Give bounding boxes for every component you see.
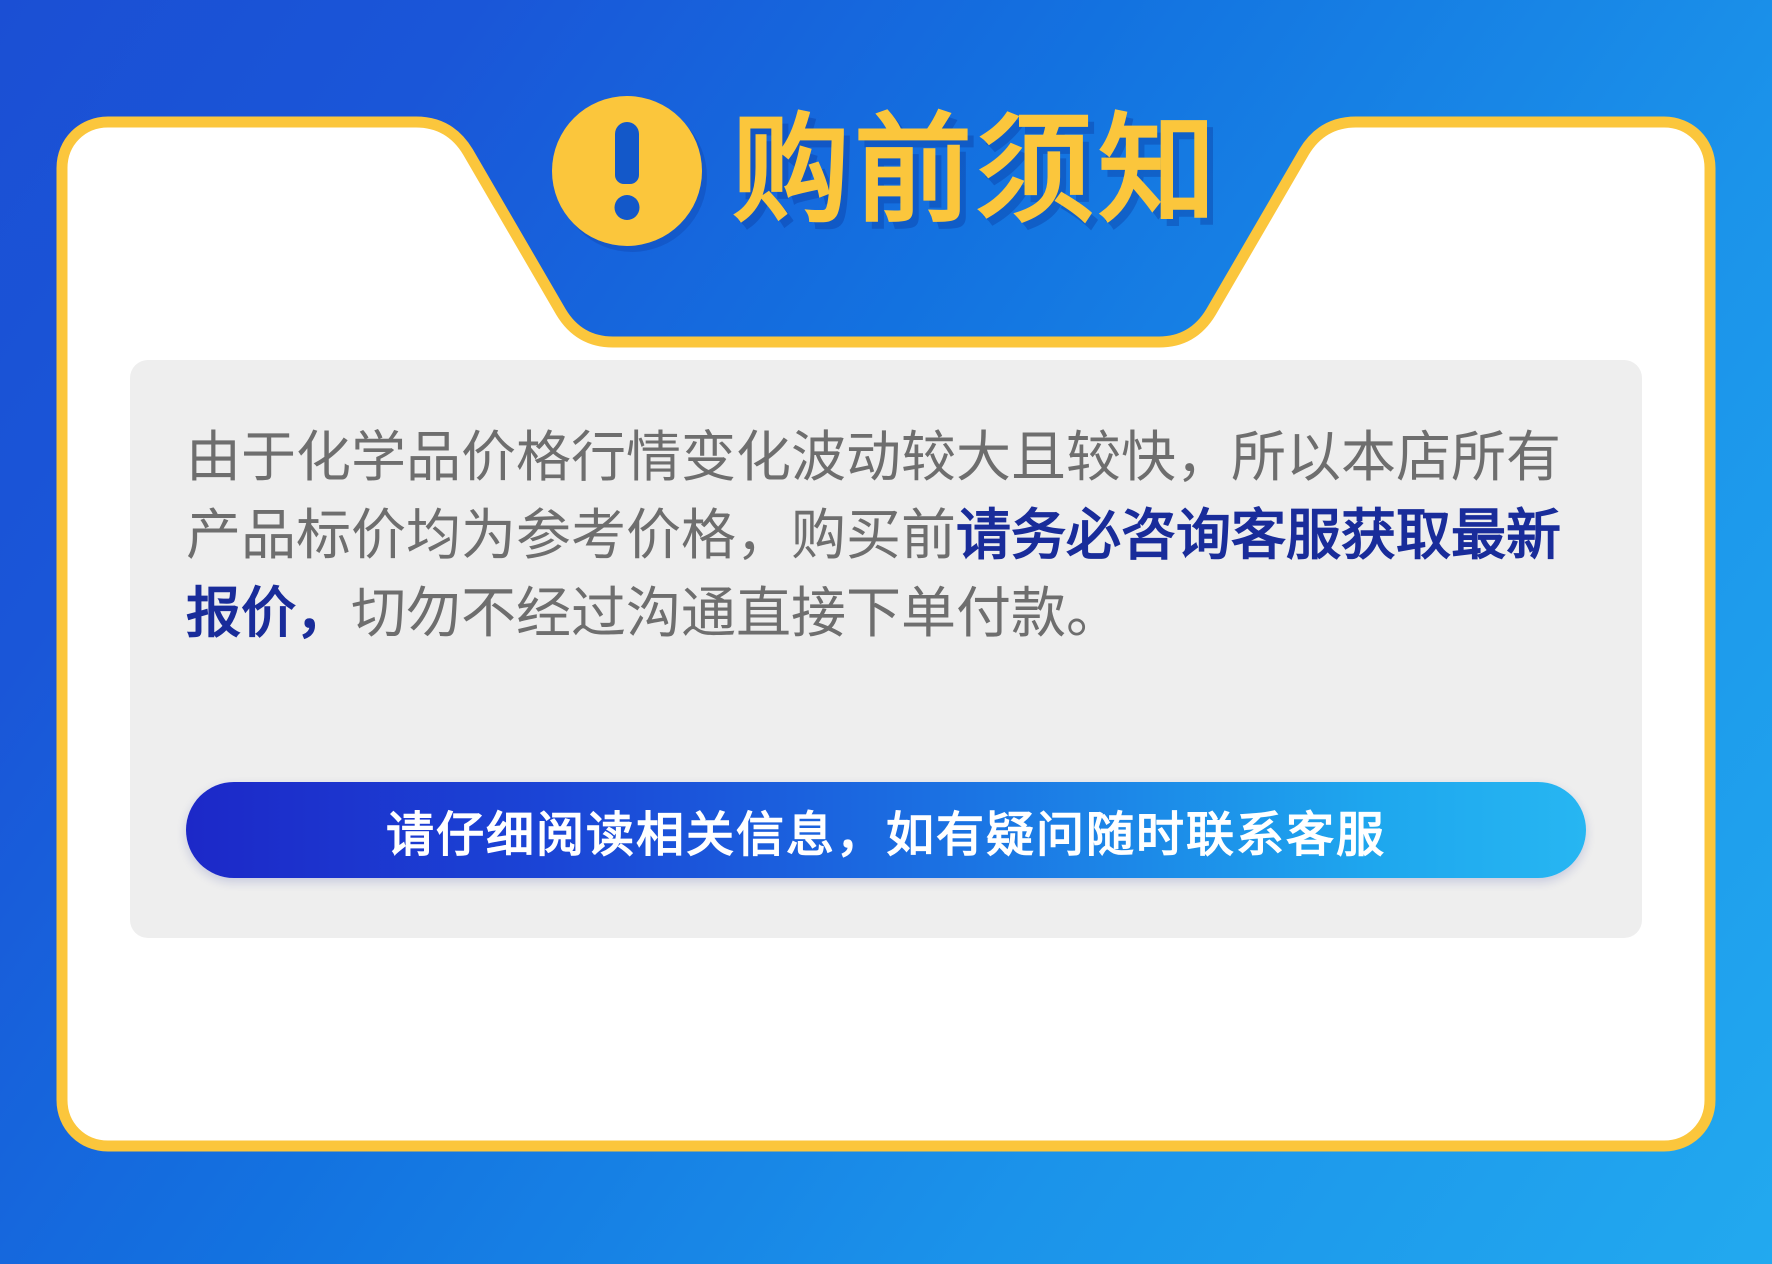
notice-body-text: 由于化学品价格行情变化波动较大且较快，所以本店所有产品标价均为参考价格，购买前请… bbox=[186, 418, 1586, 652]
contact-support-banner-label: 请仔细阅读相关信息，如有疑问随时联系客服 bbox=[386, 795, 1386, 865]
notice-segment: 切勿不经过沟通直接下单付款。 bbox=[351, 582, 1121, 644]
contact-support-banner[interactable]: 请仔细阅读相关信息，如有疑问随时联系客服 bbox=[186, 782, 1586, 878]
notice-panel: 由于化学品价格行情变化波动较大且较快，所以本店所有产品标价均为参考价格，购买前请… bbox=[130, 360, 1642, 938]
